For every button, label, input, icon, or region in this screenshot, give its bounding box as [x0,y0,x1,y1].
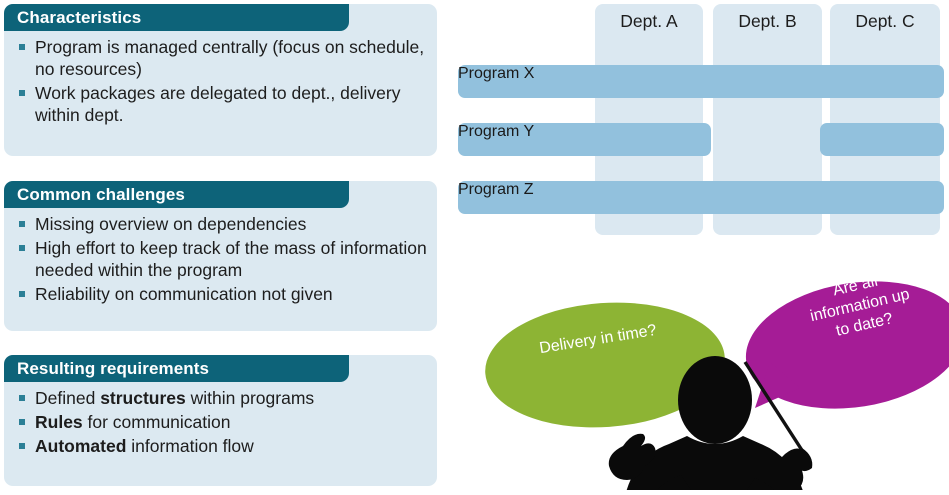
list-item: Defined structures within programs [14,387,427,409]
program-department-matrix: Dept. ADept. BDept. C Program XProgram Y… [455,0,949,240]
square-bullet-icon [19,44,25,50]
bullet-text: Missing overview on dependencies [35,214,306,234]
bullet-text: High effort to keep track of the mass of… [35,238,427,280]
square-bullet-icon [19,419,25,425]
square-bullet-icon [19,395,25,401]
square-bullet-icon [19,221,25,227]
square-bullet-icon [19,90,25,96]
square-bullet-icon [19,443,25,449]
program-bar-segment: Program Z [458,181,944,214]
characteristics-bullet-list: Program is managed centrally (focus on s… [14,36,427,126]
list-item: High effort to keep track of the mass of… [14,237,427,281]
department-label: Dept. A [595,11,703,32]
list-item: Reliability on communication not given [14,283,427,305]
list-item: Automated information flow [14,435,427,457]
square-bullet-icon [19,291,25,297]
bullet-text: Automated information flow [35,436,254,456]
program-label: Program Y [458,123,534,140]
panel-characteristics-title: Characteristics [4,8,141,28]
program-label: Program Z [458,181,534,198]
list-item: Program is managed centrally (focus on s… [14,36,427,80]
panel-common-challenges-title: Common challenges [4,185,185,205]
panel-resulting-requirements-title: Resulting requirements [4,359,209,379]
panel-common-challenges: Common challenges Missing overview on de… [4,181,437,331]
panel-characteristics: Characteristics Program is managed centr… [4,4,437,156]
program-bar-segment: Program X [458,65,944,98]
bullet-text: Reliability on communication not given [35,284,333,304]
program-bar-segment: Program Y [458,123,711,156]
requirements-bullet-list: Defined structures within programsRules … [14,387,427,457]
square-bullet-icon [19,245,25,251]
challenges-bullet-list: Missing overview on dependencies High ef… [14,213,427,305]
program-label: Program X [458,65,534,82]
bullet-text: Program is managed centrally (focus on s… [35,37,424,79]
panel-resulting-requirements-header: Resulting requirements [4,355,349,382]
list-item: Missing overview on dependencies [14,213,427,235]
bullet-text: Defined structures within programs [35,388,314,408]
department-label: Dept. C [830,11,940,32]
bullet-text: Work packages are delegated to dept., de… [35,83,400,125]
list-item: Work packages are delegated to dept., de… [14,82,427,126]
conductor-scene: Delivery in time? Are all information up… [455,240,949,490]
list-item: Rules for communication [14,411,427,433]
panel-characteristics-header: Characteristics [4,4,349,31]
panel-resulting-requirements: Resulting requirements Defined structure… [4,355,437,486]
program-bar-segment [820,123,944,156]
panel-common-challenges-header: Common challenges [4,181,349,208]
department-label: Dept. B [713,11,822,32]
bullet-text: Rules for communication [35,412,231,432]
